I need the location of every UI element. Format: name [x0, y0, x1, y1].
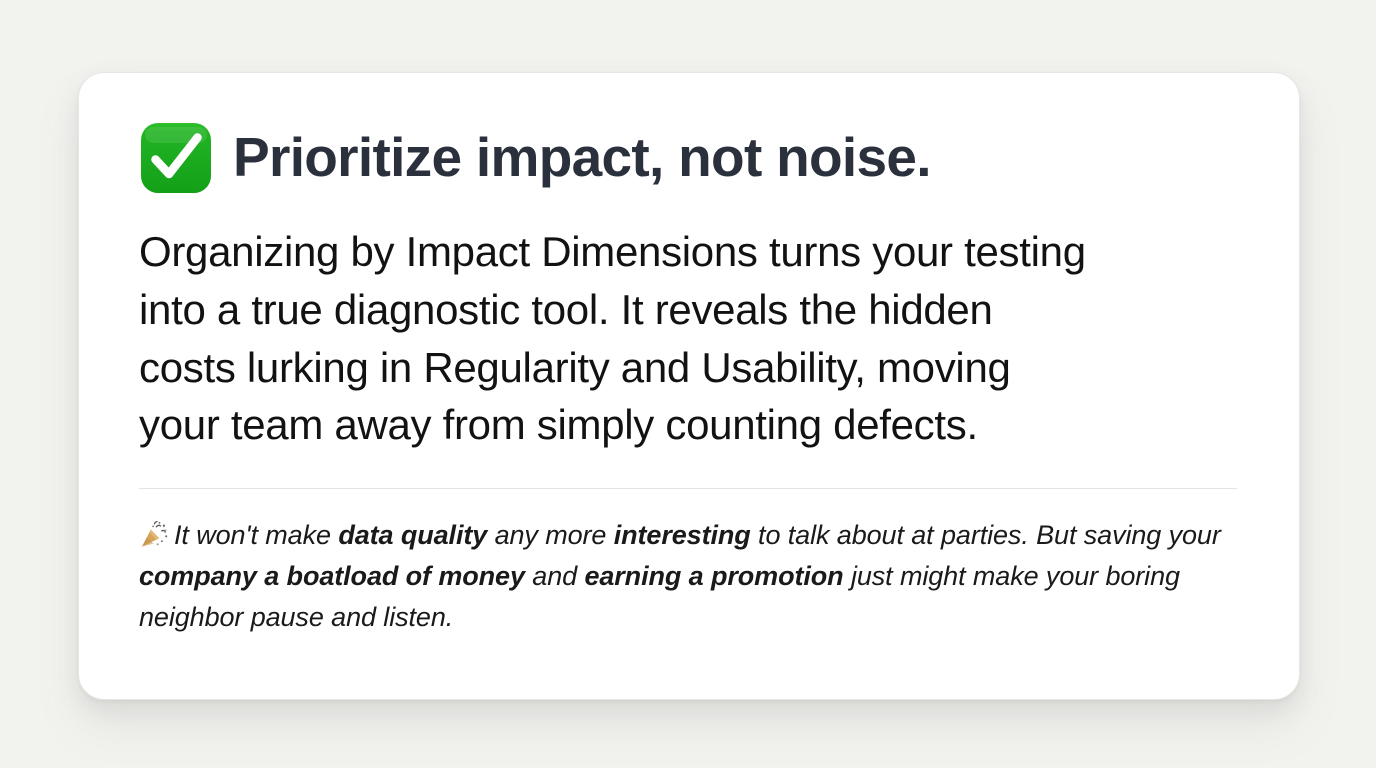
- footer-text: and: [525, 561, 585, 591]
- footer-text: It won't make: [174, 520, 338, 550]
- section-divider: [139, 488, 1237, 489]
- footer-emphasis: data quality: [338, 520, 487, 550]
- page-title: Prioritize impact, not noise.: [139, 121, 1239, 195]
- screenshot-stage: Prioritize impact, not noise. Organizing…: [0, 0, 1376, 768]
- footer-note: It won't make data quality any more inte…: [139, 515, 1239, 638]
- page-title-text: Prioritize impact, not noise.: [233, 129, 931, 187]
- body-line: your team away from simply counting defe…: [139, 396, 1239, 454]
- footer-text: to talk about at parties. But saving you…: [751, 520, 1221, 550]
- footer-emphasis: earning a promotion: [584, 561, 843, 591]
- footer-text: any more: [487, 520, 614, 550]
- footer-emphasis: interesting: [614, 520, 751, 550]
- body-line: into a true diagnostic tool. It reveals …: [139, 281, 1239, 339]
- party-popper-icon: [139, 520, 169, 550]
- body-line: costs lurking in Regularity and Usabilit…: [139, 339, 1239, 397]
- body-paragraph: Organizing by Impact Dimensions turns yo…: [139, 223, 1239, 454]
- check-mark-button-icon: [139, 121, 213, 195]
- body-line: Organizing by Impact Dimensions turns yo…: [139, 223, 1239, 281]
- content-card: Prioritize impact, not noise. Organizing…: [78, 72, 1300, 700]
- footer-note-text: It won't make data quality any more inte…: [139, 520, 1221, 632]
- footer-emphasis: company a boatload of money: [139, 561, 525, 591]
